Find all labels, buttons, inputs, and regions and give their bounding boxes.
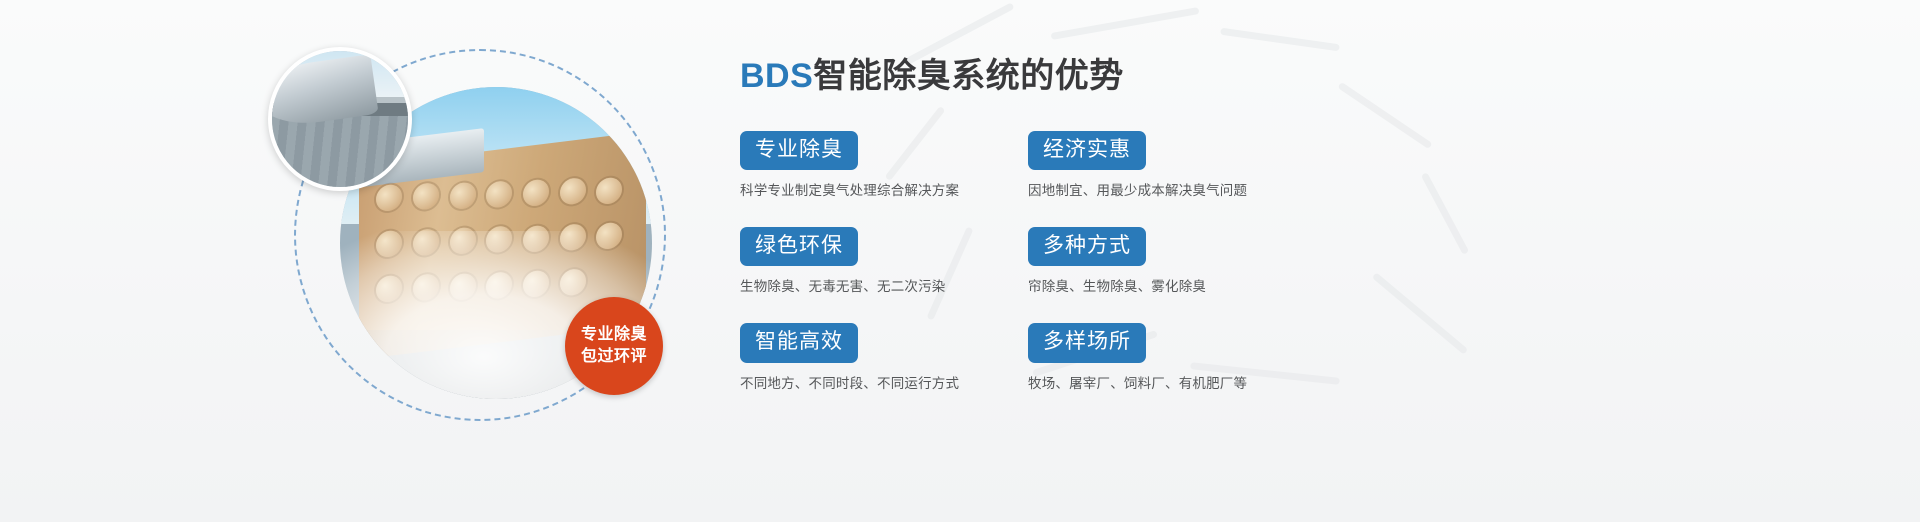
feature-badge: 绿色环保	[740, 227, 858, 266]
feature-item: 智能高效 不同地方、不同时段、不同运行方式	[740, 323, 1020, 391]
guarantee-seal-badge: 专业除臭 包过环评	[565, 297, 663, 395]
feature-badge: 智能高效	[740, 323, 858, 362]
feature-description: 不同地方、不同时段、不同运行方式	[740, 372, 1020, 392]
feature-description: 生物除臭、无毒无害、无二次污染	[740, 275, 1020, 295]
feature-description: 牧场、屠宰厂、饲料厂、有机肥厂等	[1028, 372, 1308, 392]
feature-badge: 多样场所	[1028, 323, 1146, 362]
feature-item: 多样场所 牧场、屠宰厂、饲料厂、有机肥厂等	[1028, 323, 1308, 391]
page-title: BDS智能除臭系统的优势	[740, 56, 1440, 97]
banner-stage: 专业除臭 包过环评 BDS智能除臭系统的优势 专业除臭 科学专业制定臭气处理综合…	[0, 0, 1920, 522]
feature-description: 科学专业制定臭气处理综合解决方案	[740, 179, 1020, 199]
feature-item: 多种方式 帘除臭、生物除臭、雾化除臭	[1028, 227, 1308, 295]
feature-badge: 专业除臭	[740, 131, 858, 170]
hero-image-group: 专业除臭 包过环评	[288, 35, 688, 435]
brand-name: BDS	[740, 57, 813, 95]
seal-line-1: 专业除臭	[581, 324, 647, 346]
feature-item: 经济实惠 因地制宜、用最少成本解决臭气问题	[1028, 131, 1308, 199]
feature-badge: 经济实惠	[1028, 131, 1146, 170]
feature-grid: 专业除臭 科学专业制定臭气处理综合解决方案 经济实惠 因地制宜、用最少成本解决臭…	[740, 131, 1440, 392]
feature-badge: 多种方式	[1028, 227, 1146, 266]
duct-closeup-photo	[268, 47, 412, 191]
feature-description: 因地制宜、用最少成本解决臭气问题	[1028, 179, 1308, 199]
page-title-text: 智能除臭系统的优势	[813, 57, 1124, 95]
feature-item: 专业除臭 科学专业制定臭气处理综合解决方案	[740, 131, 1020, 199]
content-column: BDS智能除臭系统的优势 专业除臭 科学专业制定臭气处理综合解决方案 经济实惠 …	[740, 56, 1440, 392]
feature-item: 绿色环保 生物除臭、无毒无害、无二次污染	[740, 227, 1020, 295]
seal-line-2: 包过环评	[581, 346, 647, 368]
feature-description: 帘除臭、生物除臭、雾化除臭	[1028, 275, 1308, 295]
